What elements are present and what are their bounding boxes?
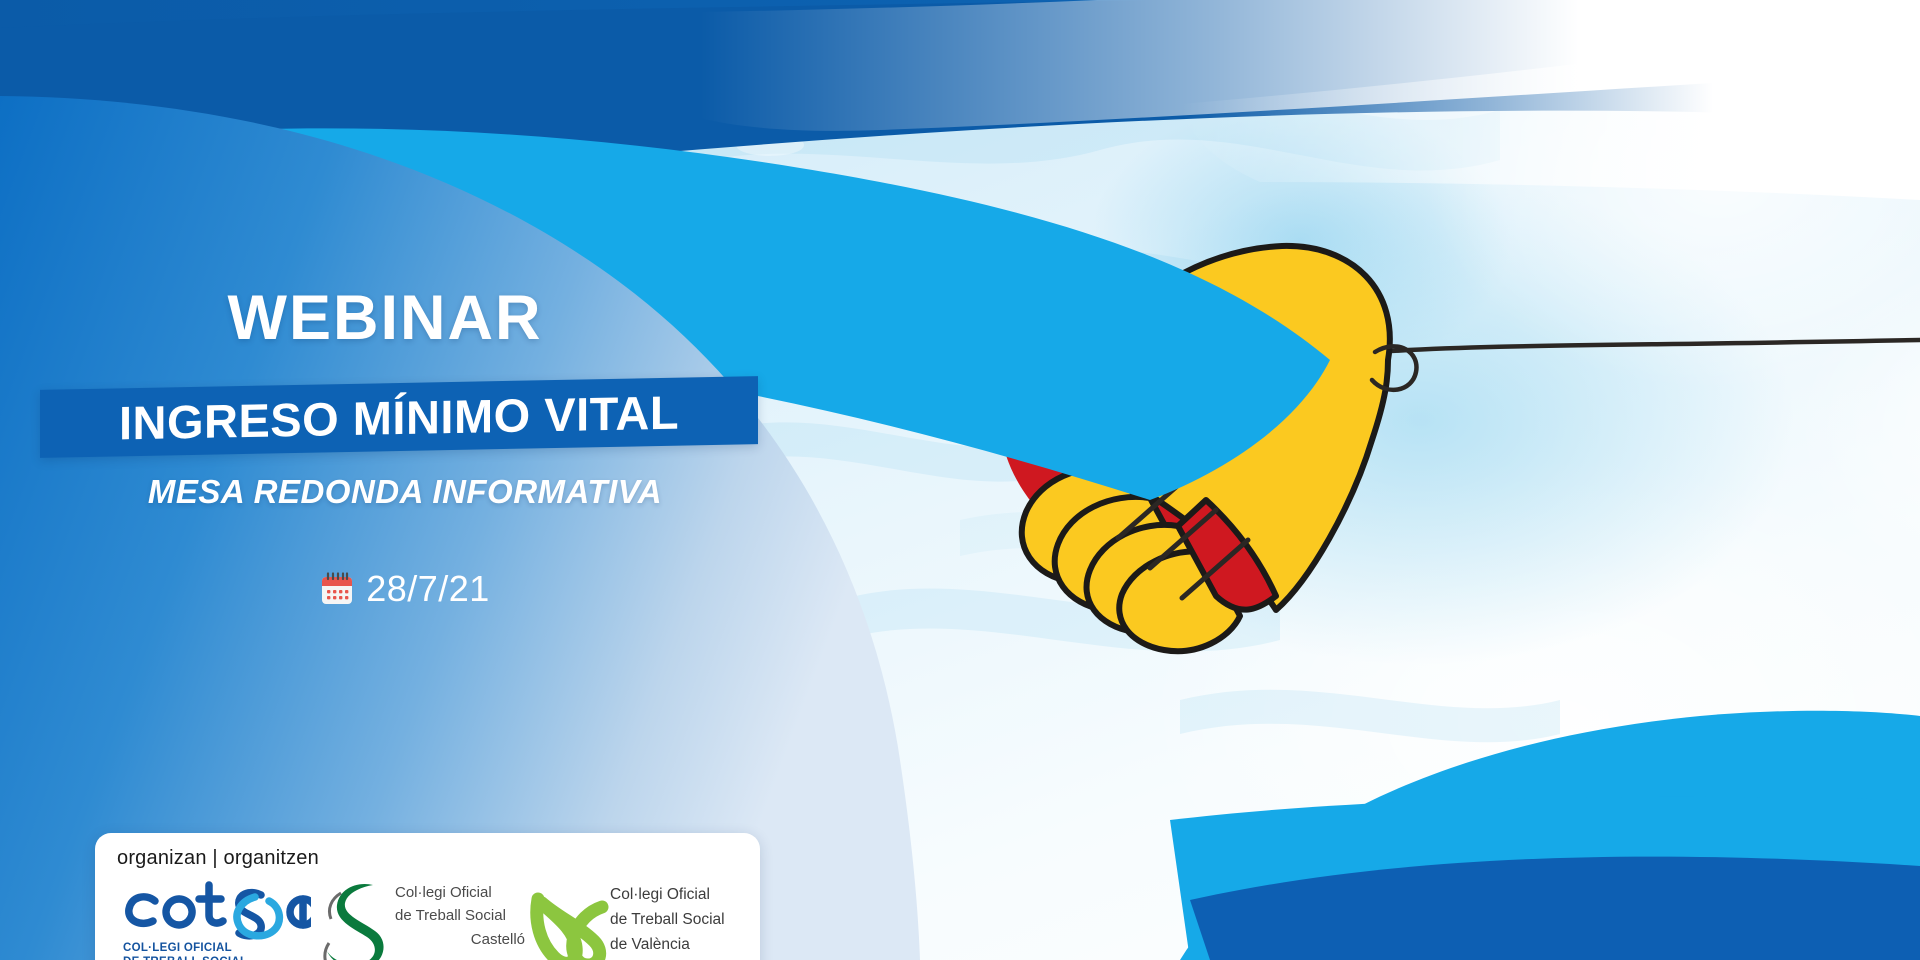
logo-valencia[interactable]: Col·legi Oficial de Treball Social de Va…: [522, 877, 742, 960]
organizer-logos: COL·LEGI OFICIAL DE TREBALL SOCIAL Col·l…: [111, 877, 751, 960]
calendar-icon: [320, 572, 354, 606]
page-subtitle: MESA REDONDA INFORMATIVA: [60, 473, 750, 511]
poster-canvas: WEBINAR INGRESO MÍNIMO VITAL MESA REDOND…: [0, 0, 1920, 960]
event-date: 28/7/21: [366, 568, 490, 610]
page-eyebrow: WEBINAR: [190, 287, 580, 350]
castello-mark-icon: [319, 879, 397, 960]
organizers-label: organizan | organitzen: [117, 847, 319, 870]
cotsa-subtitle: COL·LEGI OFICIAL DE TREBALL SOCIAL: [123, 941, 313, 960]
organizers-card: organizan | organitzen: [95, 833, 760, 960]
event-date-line: 28/7/21: [60, 568, 750, 610]
logo-castello[interactable]: Col·legi Oficial de Treball Social Caste…: [317, 877, 522, 960]
page-title: INGRESO MÍNIMO VITAL: [40, 376, 758, 458]
cotsa-wordmark-icon: [121, 879, 311, 941]
logo-cotsa[interactable]: COL·LEGI OFICIAL DE TREBALL SOCIAL: [111, 877, 317, 960]
valencia-mark-icon: [524, 881, 610, 960]
title-band: INGRESO MÍNIMO VITAL: [40, 383, 770, 453]
valencia-name: Col·legi Oficial de Treball Social de Va…: [610, 883, 750, 957]
castello-name: Col·legi Oficial de Treball Social Caste…: [395, 881, 525, 951]
